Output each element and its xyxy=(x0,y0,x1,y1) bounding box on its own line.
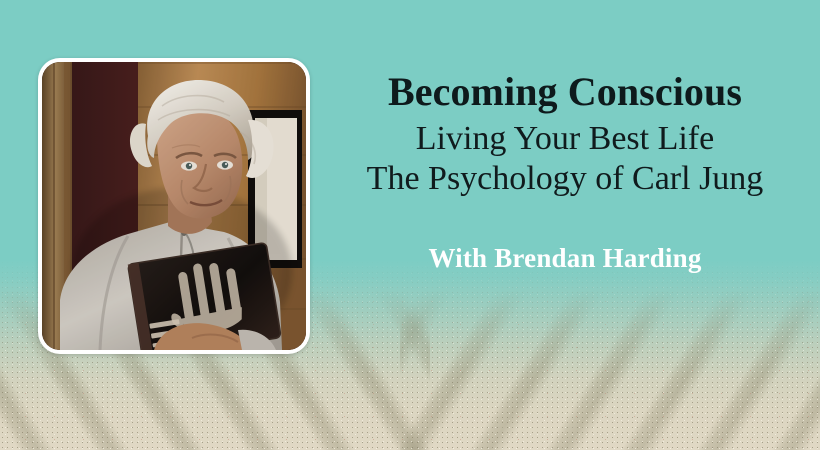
presenter-name: With Brendan Harding xyxy=(322,243,808,274)
subtitle-line-one: Living Your Best Life xyxy=(322,119,808,159)
speaker-photo-card xyxy=(38,58,310,354)
headline-block: Becoming Conscious Living Your Best Life… xyxy=(322,70,808,274)
speaker-photo-illustration xyxy=(42,62,306,350)
page-title: Becoming Conscious xyxy=(322,70,808,115)
subtitle-line-two: The Psychology of Carl Jung xyxy=(322,159,808,199)
speaker-photo xyxy=(42,62,306,350)
webinar-promo-poster: Becoming Conscious Living Your Best Life… xyxy=(0,0,820,450)
sand-ripples-right xyxy=(400,290,820,450)
